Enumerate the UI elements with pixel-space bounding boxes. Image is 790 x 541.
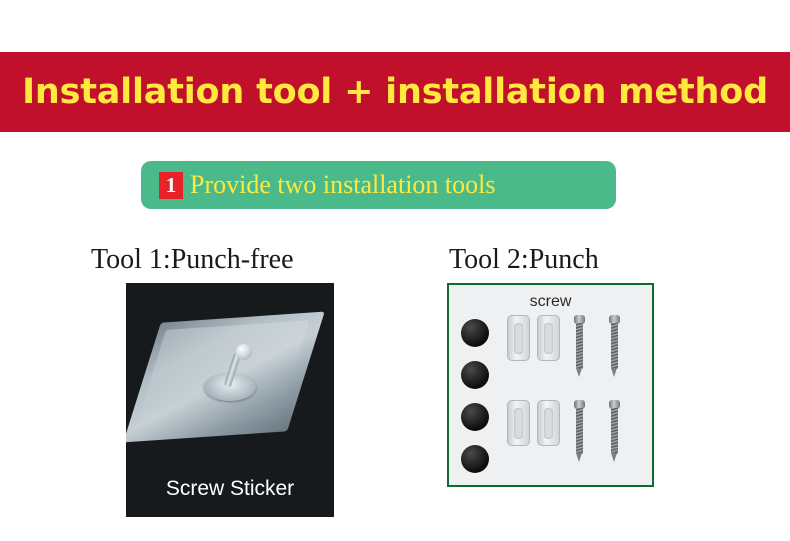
tool-2-heading: Tool 2:Punch <box>449 244 599 276</box>
screw-icon <box>609 400 620 462</box>
screw-tip <box>576 368 582 377</box>
tool-1-image-panel: Screw Sticker <box>126 283 334 517</box>
screw-icon <box>574 400 585 462</box>
wall-anchor-icon <box>537 315 560 361</box>
wall-anchor-icon <box>507 400 530 446</box>
wall-plug-cap-icon <box>461 361 489 389</box>
tool-2-caption: screw <box>449 293 652 311</box>
wall-plug-cap-icon <box>461 445 489 473</box>
screw-icon <box>609 315 620 377</box>
screw-shaft <box>611 323 618 369</box>
screw-tip <box>576 453 582 462</box>
wall-plug-cap-icon <box>461 319 489 347</box>
header-banner: Installation tool + installation method <box>0 52 790 132</box>
screw-shaft <box>576 323 583 369</box>
screw-shaft <box>611 408 618 454</box>
wall-plug-cap-icon <box>461 403 489 431</box>
step-1-badge: 1 Provide two installation tools <box>141 161 616 209</box>
step-number: 1 <box>159 172 183 199</box>
product-infographic: Installation tool + installation method … <box>0 0 790 541</box>
screw-icon <box>574 315 585 377</box>
tool-1-heading: Tool 1:Punch-free <box>91 244 294 276</box>
screw-tip <box>611 368 617 377</box>
sticker-knob-shape <box>236 344 252 360</box>
screw-shaft <box>576 408 583 454</box>
wall-anchor-icon <box>507 315 530 361</box>
tool-2-image-panel: screw <box>447 283 654 487</box>
adhesive-sticker-illustration <box>132 307 328 457</box>
step-label: Provide two installation tools <box>190 170 496 200</box>
page-title: Installation tool + installation method <box>22 72 768 112</box>
wall-anchor-icon <box>537 400 560 446</box>
tool-1-caption: Screw Sticker <box>126 477 334 501</box>
screw-tip <box>611 453 617 462</box>
